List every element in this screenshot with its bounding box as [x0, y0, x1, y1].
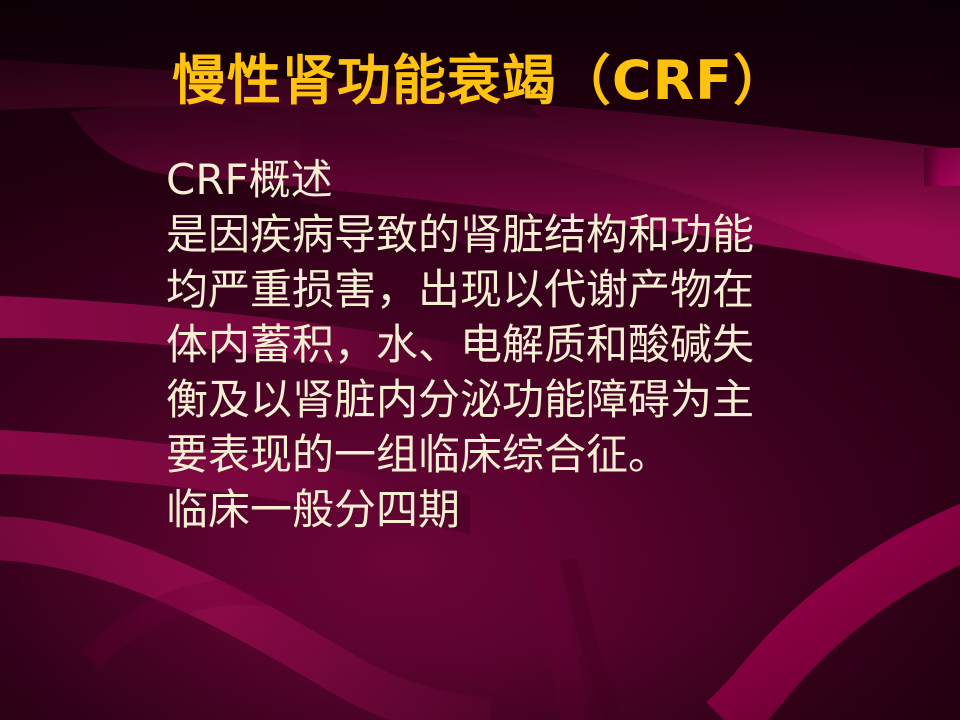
body-line: 体内蓄积，水、电解质和酸碱失	[166, 317, 786, 372]
body-line: 衡及以肾脏内分泌功能障碍为主	[166, 372, 786, 427]
body-line: 是因疾病导致的肾脏结构和功能	[166, 207, 786, 262]
body-line: 要表现的一组临床综合征。	[166, 427, 786, 482]
slide-body: CRF概述 是因疾病导致的肾脏结构和功能 均严重损害，出现以代谢产物在 体内蓄积…	[166, 152, 786, 537]
body-line: 均严重损害，出现以代谢产物在	[166, 262, 786, 317]
body-line: 临床一般分四期	[166, 482, 786, 537]
body-line: CRF概述	[166, 152, 786, 207]
slide-title: 慢性肾功能衰竭（CRF）	[0, 36, 960, 115]
presentation-slide: 慢性肾功能衰竭（CRF） CRF概述 是因疾病导致的肾脏结构和功能 均严重损害，…	[0, 0, 960, 720]
